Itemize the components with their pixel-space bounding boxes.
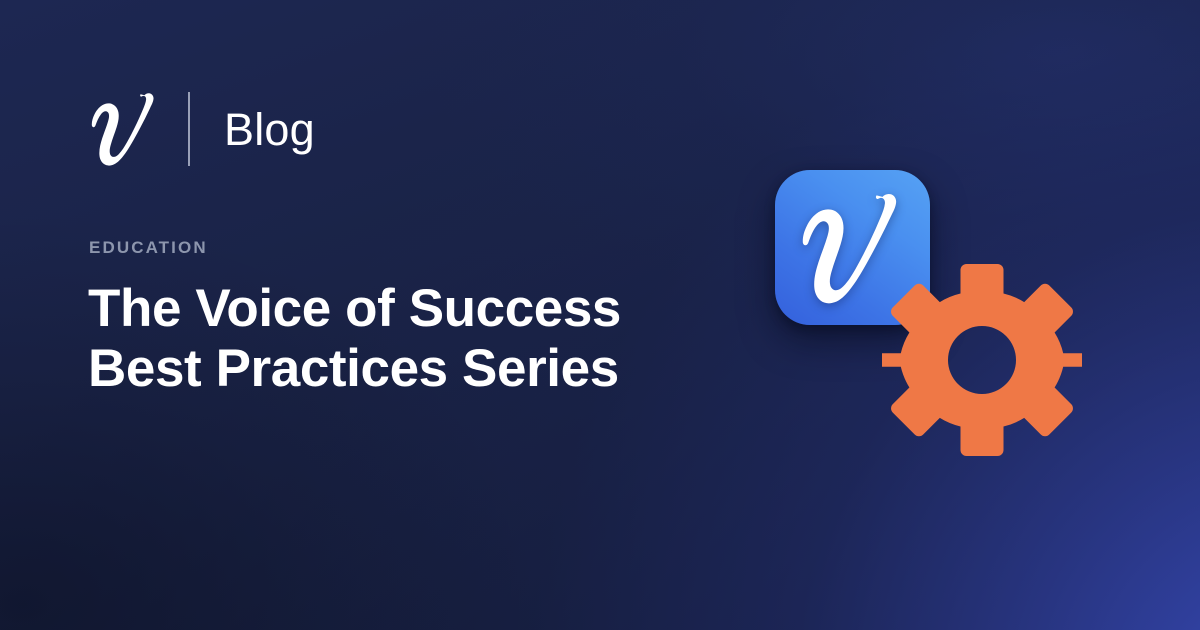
vonage-script-v-logo-icon — [88, 90, 162, 168]
category-eyebrow: EDUCATION — [89, 239, 208, 256]
headline-line-2: Best Practices Series — [88, 339, 748, 399]
brand-title: Blog — [224, 107, 315, 152]
gear-icon — [882, 260, 1082, 460]
social-card-canvas: Blog EDUCATION The Voice of Success Best… — [0, 0, 1200, 630]
headline-line-1: The Voice of Success — [88, 279, 748, 339]
artwork-illustration — [740, 140, 1140, 520]
page-title: The Voice of Success Best Practices Seri… — [88, 279, 748, 399]
brand-divider — [188, 92, 190, 166]
brand-header: Blog — [88, 86, 315, 172]
